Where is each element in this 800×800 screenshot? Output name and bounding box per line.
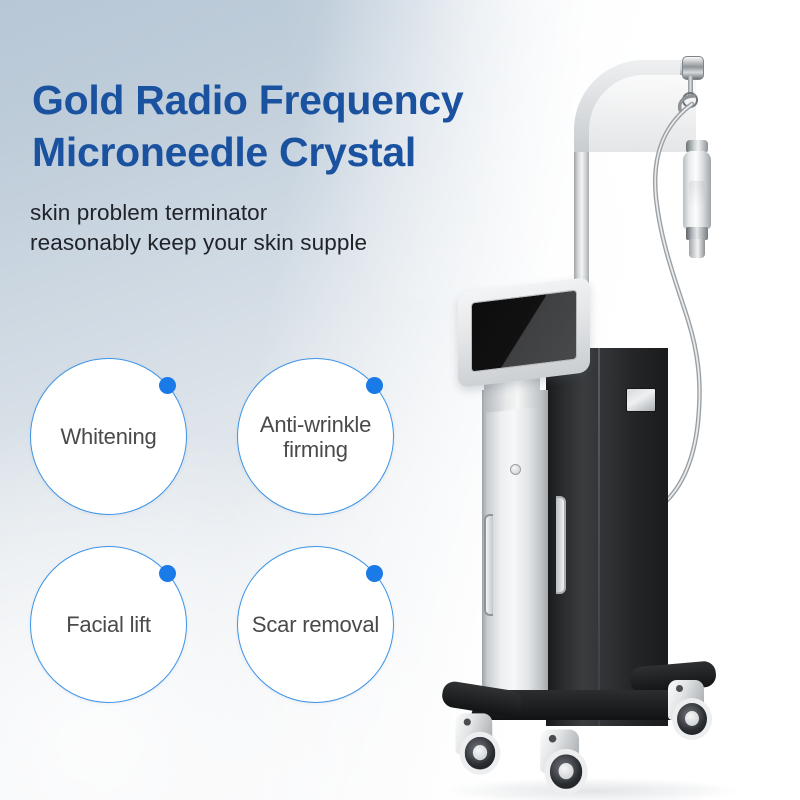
castor-pin [676, 685, 683, 692]
product-poster: Gold Radio Frequency Microneedle Crystal… [0, 0, 800, 800]
feature-label: Facial lift [58, 612, 159, 637]
castor-pin [549, 735, 557, 743]
side-vent-panel [626, 388, 656, 412]
accent-dot-icon [159, 565, 176, 582]
front-column [482, 390, 548, 720]
rf-microneedle-machine [430, 30, 800, 800]
subheadline-line-1: skin problem terminator [30, 200, 267, 225]
feature-bubble-scar-removal: Scar removal [237, 546, 394, 703]
column-handle[interactable] [484, 514, 493, 616]
handpiece-body [683, 151, 711, 229]
cabinet-seam [598, 348, 600, 726]
feature-bubble-grid: Whitening Anti-wrinkle firming Facial li… [30, 358, 420, 703]
feature-label: Anti-wrinkle firming [252, 412, 379, 462]
feature-bubble-anti-wrinkle-firming: Anti-wrinkle firming [237, 358, 394, 515]
accent-dot-icon [159, 377, 176, 394]
handpiece-tip [689, 239, 705, 258]
cabinet-handle[interactable] [556, 496, 566, 594]
castor-wheel [540, 730, 590, 797]
feature-bubble-whitening: Whitening [30, 358, 187, 515]
castor-hub [559, 763, 574, 779]
feature-bubble-facial-lift: Facial lift [30, 546, 187, 703]
monitor-screen[interactable] [471, 289, 577, 372]
castor-pin [464, 718, 471, 725]
accent-dot-icon [366, 377, 383, 394]
touchscreen-monitor[interactable] [458, 277, 590, 388]
castor-wheel [668, 680, 714, 742]
accent-dot-icon [366, 565, 383, 582]
treatment-handpiece [682, 140, 712, 258]
feature-label: Whitening [52, 424, 164, 449]
feature-label: Scar removal [244, 612, 387, 637]
headline-line-1: Gold Radio Frequency [32, 77, 463, 123]
castor-hub [473, 745, 487, 760]
castor-wheel [456, 713, 503, 776]
castor-hub [685, 711, 699, 726]
power-button[interactable] [510, 464, 521, 475]
